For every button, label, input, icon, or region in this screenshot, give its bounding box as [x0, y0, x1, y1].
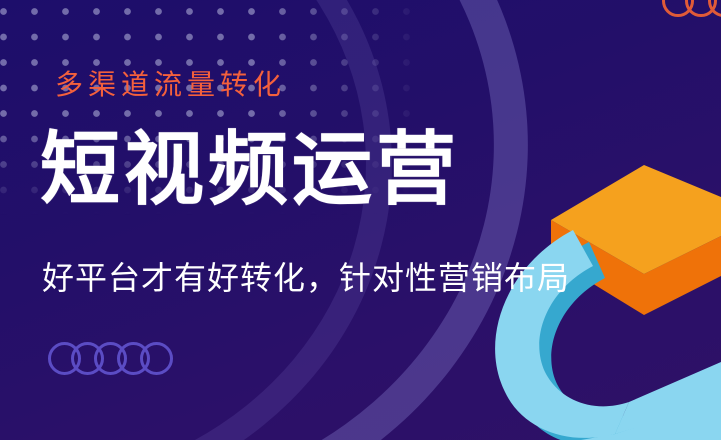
- ring-icon: [140, 342, 173, 375]
- ring-icon: [708, 0, 721, 17]
- ring-cluster-top-right: [662, 0, 721, 17]
- ring-cluster-bottom-left: [48, 342, 163, 375]
- promo-banner: 多渠道流量转化 短视频运营 好平台才有好转化，针对性营销布局: [0, 0, 721, 440]
- isometric-c-block-icon: [401, 150, 721, 440]
